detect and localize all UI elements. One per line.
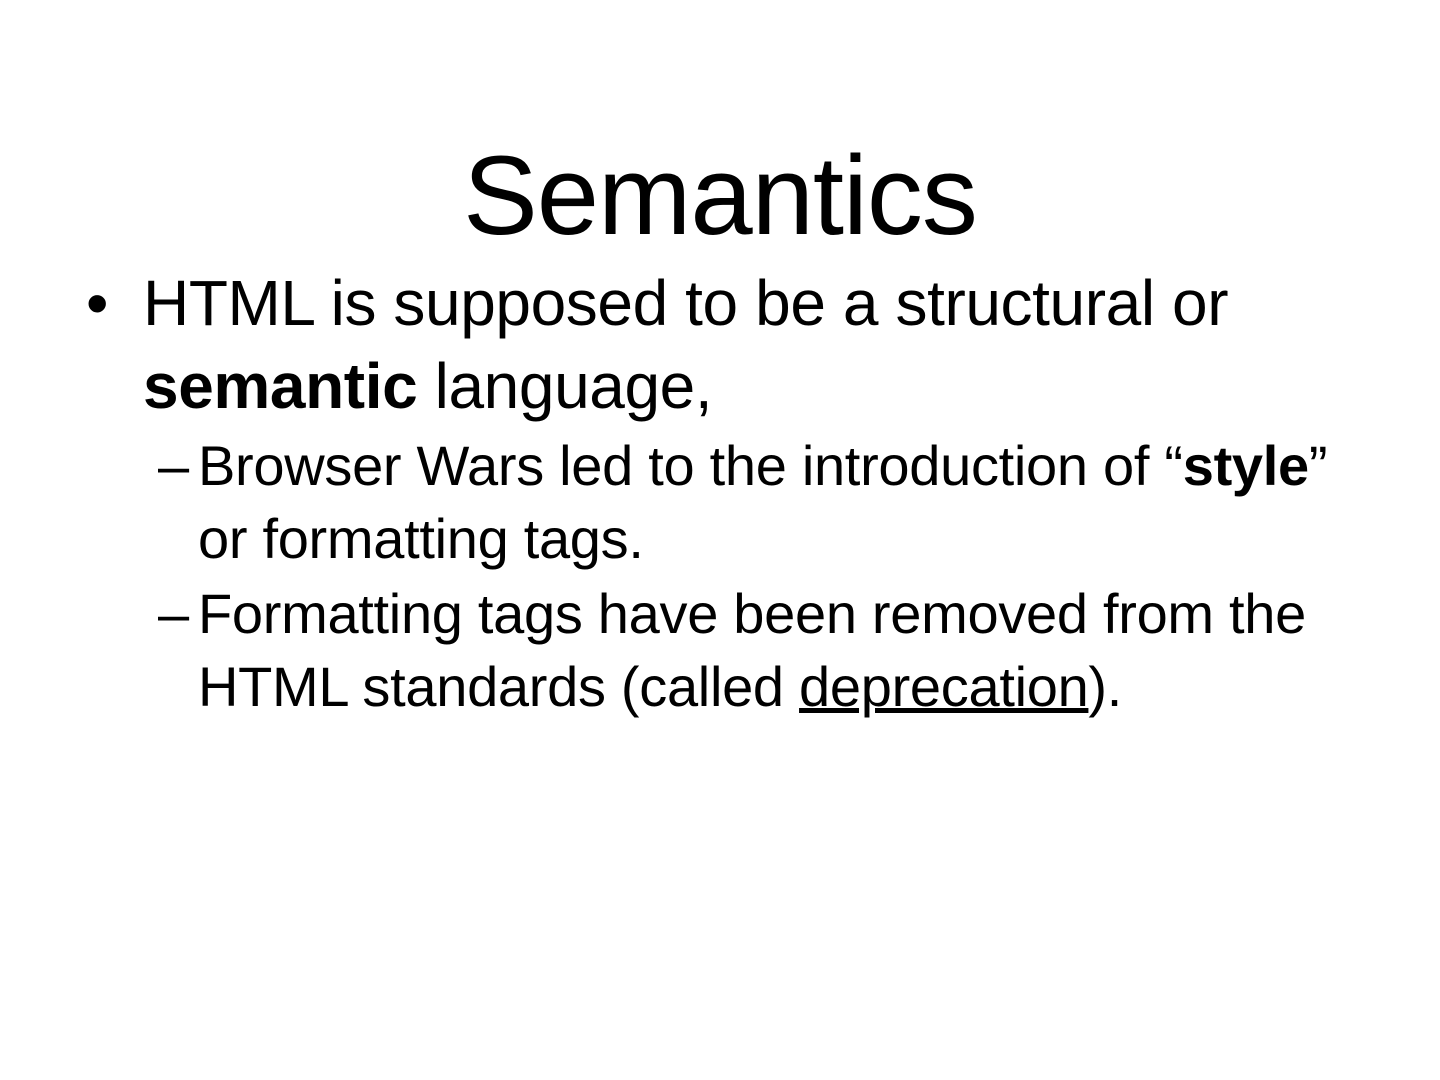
bullet-text-run: Formatting tags have been removed from t… <box>198 582 1306 718</box>
bullet-text-run-bold: style <box>1183 434 1309 497</box>
bullet-item-level2-browser-wars: –Browser Wars led to the introduction of… <box>80 430 1380 576</box>
slide-title: Semantics <box>0 137 1440 255</box>
bullet-item-level2-formatting-tags: –Formatting tags have been removed from … <box>80 578 1380 724</box>
bullet-dash-icon: – <box>158 578 189 651</box>
presentation-slide: Semantics •HTML is supposed to be a stru… <box>0 0 1440 1080</box>
bullet-text-run-bold: semantic <box>143 350 417 422</box>
bullet-text-run: HTML is supposed to be a structural or <box>143 267 1228 339</box>
bullet-text-run: Browser Wars led to the introduction of … <box>198 434 1183 497</box>
bullet-item-level1: •HTML is supposed to be a structural or … <box>80 262 1373 428</box>
slide-body: •HTML is supposed to be a structural or … <box>80 262 1380 724</box>
bullet-text-run: language, <box>417 350 712 422</box>
bullet-dash-icon: – <box>158 430 189 503</box>
bullet-dot-icon: • <box>86 262 108 345</box>
bullet-text-run-underline: deprecation <box>799 655 1088 718</box>
bullet-text-run: ). <box>1088 655 1122 718</box>
